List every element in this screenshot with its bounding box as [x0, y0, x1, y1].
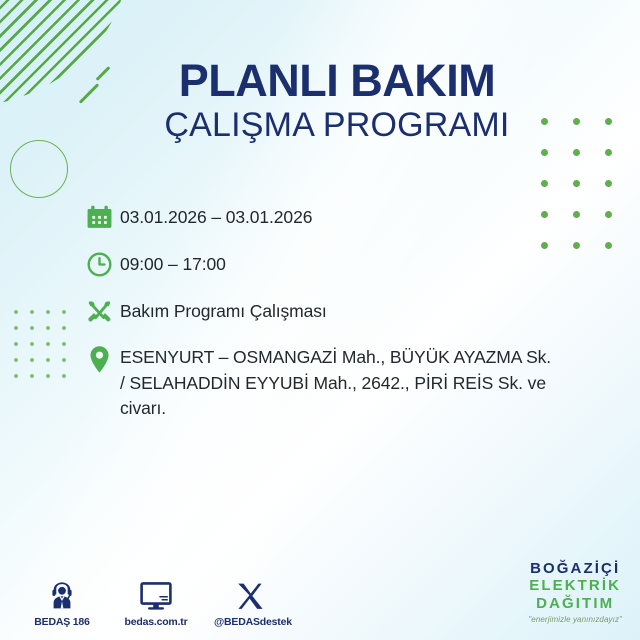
brand-line-3: DAĞITIM [528, 595, 622, 612]
dot [62, 326, 66, 330]
dot [541, 180, 548, 187]
dot [573, 242, 580, 249]
brand-slogan: "enerjimizle yanınızdayız" [528, 615, 622, 624]
footer: BEDAŞ 186 bedas.com.tr [0, 548, 640, 640]
dot [573, 149, 580, 156]
company-logo: BOĞAZİÇİ ELEKTRİK DAĞITIM "enerjimizle y… [528, 560, 622, 624]
dot [605, 242, 612, 249]
detail-text-time: 09:00 – 17:00 [120, 249, 226, 278]
detail-row-address: ESENYURT – OSMANGAZİ Mah., BÜYÜK AYAZMA … [86, 343, 556, 422]
dot [605, 149, 612, 156]
dot [46, 326, 50, 330]
contact-call-center[interactable]: BEDAŞ 186 [26, 577, 98, 628]
dot [605, 211, 612, 218]
maintenance-details-list: 03.01.2026 – 03.01.2026 09:00 – 17:00 [86, 202, 556, 422]
detail-row-time: 09:00 – 17:00 [86, 249, 556, 278]
detail-text-date: 03.01.2026 – 03.01.2026 [120, 202, 312, 231]
detail-text-work-type: Bakım Programı Çalışması [120, 296, 327, 325]
dot [605, 180, 612, 187]
dot [62, 374, 66, 378]
dot [30, 374, 34, 378]
dot [62, 342, 66, 346]
brand-line-1: BOĞAZİÇİ [528, 560, 622, 577]
dot [30, 326, 34, 330]
headset-support-icon [26, 577, 98, 611]
location-pin-icon [86, 343, 120, 374]
calendar-icon [86, 202, 120, 231]
contact-social-x[interactable]: @BEDASdestek [214, 577, 286, 628]
clock-icon [86, 249, 120, 278]
dot [541, 149, 548, 156]
title-line-primary: PLANLI BAKIM [34, 58, 640, 104]
contact-channels: BEDAŞ 186 bedas.com.tr [26, 577, 286, 628]
dot [46, 374, 50, 378]
dot [62, 310, 66, 314]
dot [30, 310, 34, 314]
dot-grid-left-decoration [14, 310, 66, 378]
brand-line-2: ELEKTRİK [528, 577, 622, 594]
title-line-secondary: ÇALIŞMA PROGRAMI [34, 108, 640, 144]
contact-label-website: bedas.com.tr [120, 616, 192, 628]
dot [14, 342, 18, 346]
monitor-icon [120, 577, 192, 611]
contact-label-social-x: @BEDASdestek [214, 616, 286, 628]
dot [46, 342, 50, 346]
dot [14, 310, 18, 314]
wrench-screwdriver-icon [86, 296, 120, 325]
dot [573, 180, 580, 187]
dot [14, 374, 18, 378]
circle-outline-decoration [10, 140, 68, 198]
dot [46, 310, 50, 314]
x-twitter-icon [214, 577, 286, 611]
contact-website[interactable]: bedas.com.tr [120, 577, 192, 628]
dot [14, 326, 18, 330]
dot [30, 342, 34, 346]
dot [30, 358, 34, 362]
page-title: PLANLI BAKIM ÇALIŞMA PROGRAMI [0, 58, 640, 144]
detail-text-address: ESENYURT – OSMANGAZİ Mah., BÜYÜK AYAZMA … [120, 343, 556, 422]
planned-maintenance-poster: PLANLI BAKIM ÇALIŞMA PROGRAMI [0, 0, 640, 640]
detail-row-work-type: Bakım Programı Çalışması [86, 296, 556, 325]
dot [62, 358, 66, 362]
dot [14, 358, 18, 362]
detail-row-date: 03.01.2026 – 03.01.2026 [86, 202, 556, 231]
contact-label-call-center: BEDAŞ 186 [26, 616, 98, 628]
dot [46, 358, 50, 362]
dot [573, 211, 580, 218]
